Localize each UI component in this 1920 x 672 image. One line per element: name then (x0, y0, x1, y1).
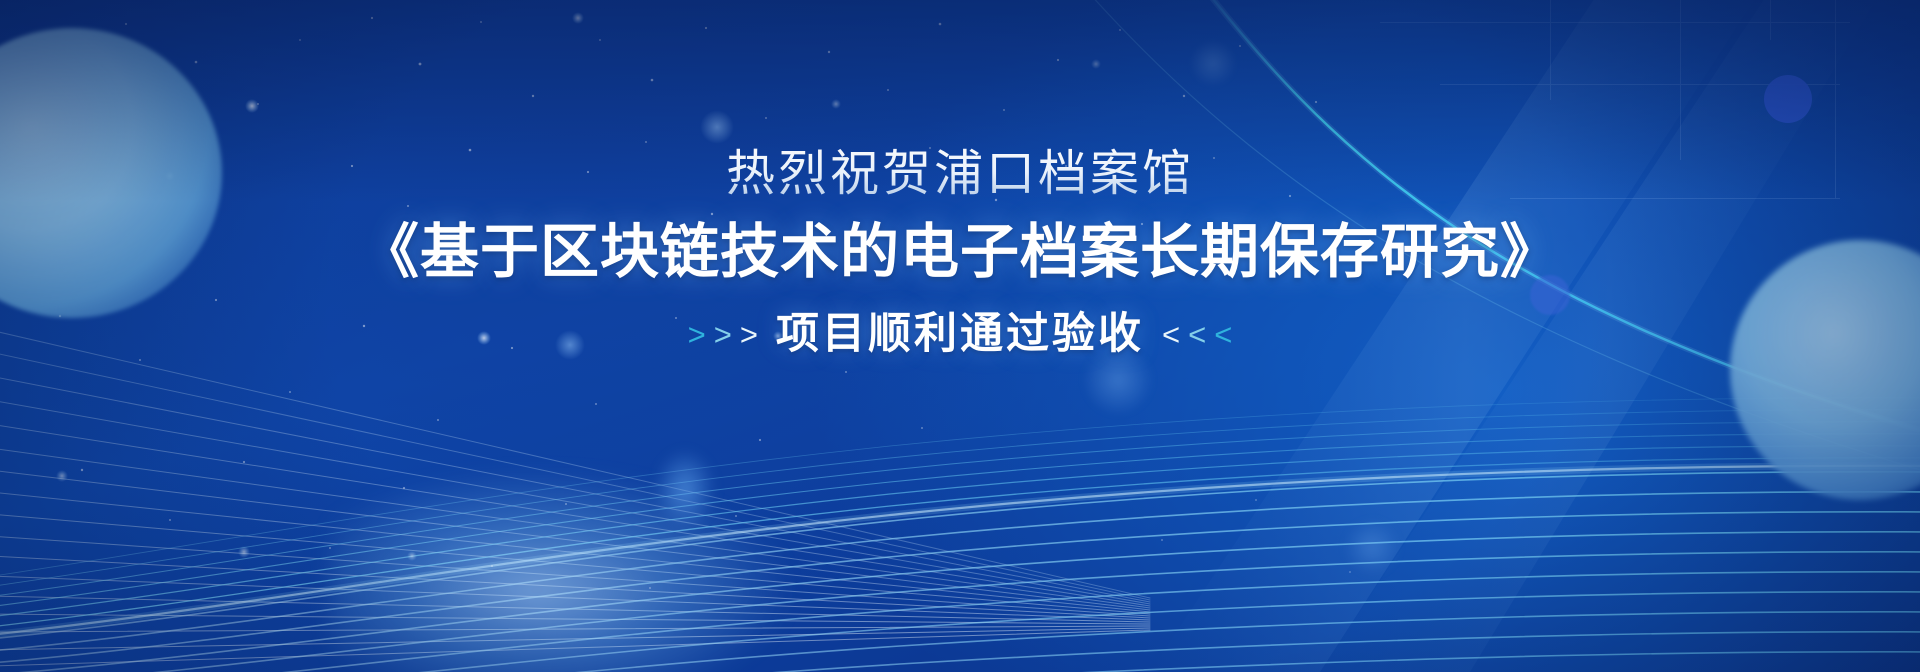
chevron-right-icon-3: > (740, 319, 758, 350)
banner-headline: 热烈祝贺浦口档案馆 (726, 148, 1194, 201)
chevron-right-group-icon: > > > (688, 319, 758, 350)
chevron-left-icon-2: < (1188, 319, 1206, 350)
banner-subheadline-row: > > > 项目顺利通过验收 < < < (688, 311, 1233, 358)
celebration-banner: 热烈祝贺浦口档案馆 《基于区块链技术的电子档案长期保存研究》 > > > 项目顺… (0, 0, 1920, 672)
chevron-right-icon-1: > (688, 319, 706, 350)
banner-subheadline: 项目顺利通过验收 (776, 311, 1144, 358)
chevron-right-icon-2: > (714, 319, 732, 350)
chevron-left-icon-3: < (1214, 319, 1232, 350)
banner-project-title: 《基于区块链技术的电子档案长期保存研究》 (360, 221, 1560, 285)
banner-text-block: 热烈祝贺浦口档案馆 《基于区块链技术的电子档案长期保存研究》 > > > 项目顺… (0, 0, 1920, 672)
chevron-left-icon-1: < (1162, 319, 1180, 350)
chevron-left-group-icon: < < < (1162, 319, 1232, 350)
